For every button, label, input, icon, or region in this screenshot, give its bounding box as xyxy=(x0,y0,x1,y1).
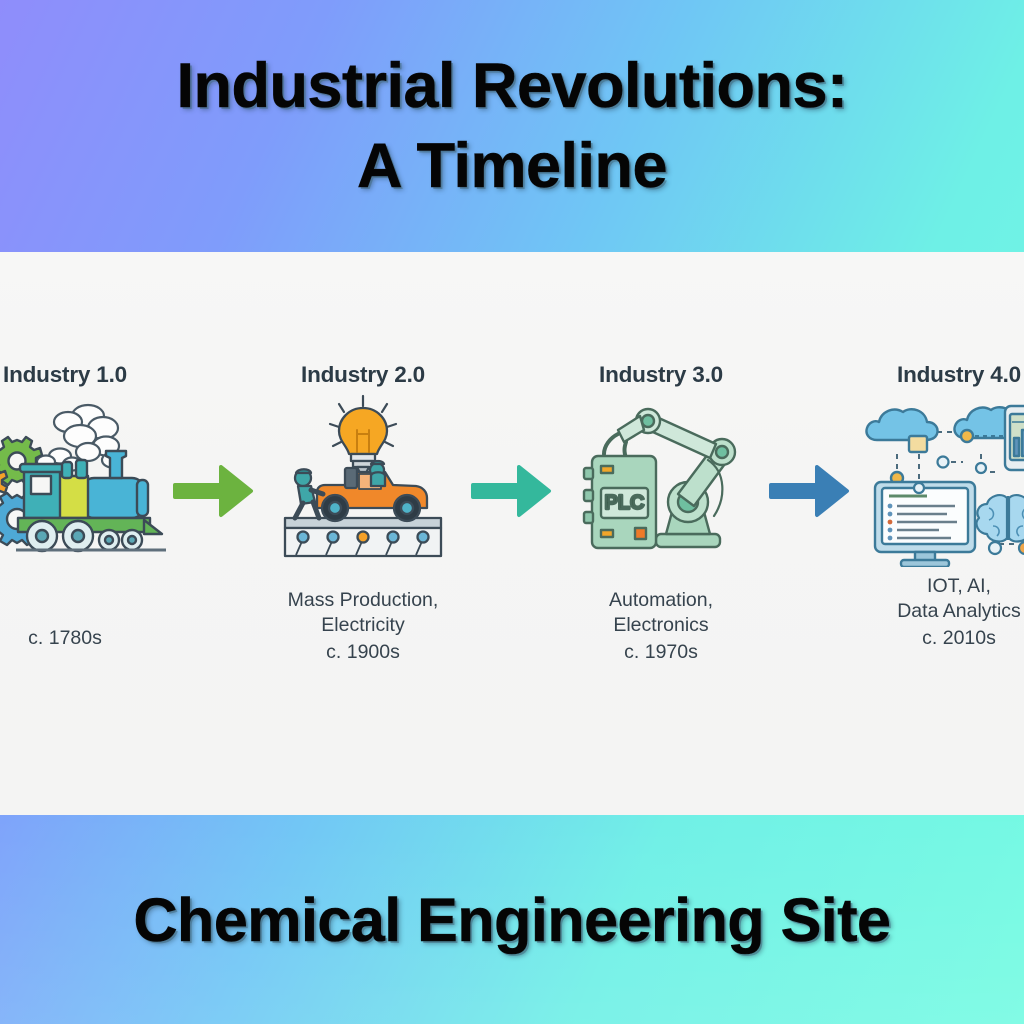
poster-title-line-2: A Timeline xyxy=(357,126,667,206)
assembly-line-lightbulb-icon xyxy=(258,394,468,564)
arrow-3-to-4 xyxy=(766,406,854,576)
stage-caption-industry-3: Automation, Electronics xyxy=(609,588,713,638)
timeline-stage-industry-4: Industry 4.0 xyxy=(854,362,1024,651)
poster-title-line-1: Industrial Revolutions: xyxy=(176,46,847,126)
stage-caption-industry-2: Mass Production, Electricity xyxy=(288,588,439,638)
poster-canvas: Industrial Revolutions: A Timeline Indus… xyxy=(0,0,1024,1024)
plc-label: PLC xyxy=(604,492,644,514)
stage-caption-industry-4: IOT, AI, Data Analytics xyxy=(897,574,1021,624)
stage-title-industry-4: Industry 4.0 xyxy=(897,362,1021,388)
cloud-computer-brain-network-icon xyxy=(854,394,1024,564)
stage-date-industry-2: c. 1900s xyxy=(326,640,400,665)
stage-date-industry-4: c. 2010s xyxy=(922,626,996,651)
arrow-2-to-3 xyxy=(468,406,556,576)
stage-date-industry-3: c. 1970s xyxy=(624,640,698,665)
stage-title-industry-2: Industry 2.0 xyxy=(301,362,425,388)
footer-brand-text: Chemical Engineering Site xyxy=(134,884,891,956)
timeline-stage-industry-1: Industry 1.0 xyxy=(0,362,170,651)
content-panel: Industry 1.0 xyxy=(0,252,1024,815)
timeline-stage-industry-2: Industry 2.0 xyxy=(258,362,468,665)
steam-locomotive-gears-icon xyxy=(0,394,170,564)
stage-title-industry-3: Industry 3.0 xyxy=(599,362,723,388)
poster-header: Industrial Revolutions: A Timeline xyxy=(0,0,1024,252)
arrow-1-to-2 xyxy=(170,406,258,576)
poster-footer: Chemical Engineering Site xyxy=(0,815,1024,1024)
robot-arm-plc-icon: PLC xyxy=(556,394,766,564)
timeline-stage-industry-3: Industry 3.0 xyxy=(556,362,766,665)
timeline-stages: Industry 1.0 xyxy=(0,362,1024,702)
stage-title-industry-1: Industry 1.0 xyxy=(3,362,127,388)
stage-date-industry-1: c. 1780s xyxy=(28,626,102,651)
